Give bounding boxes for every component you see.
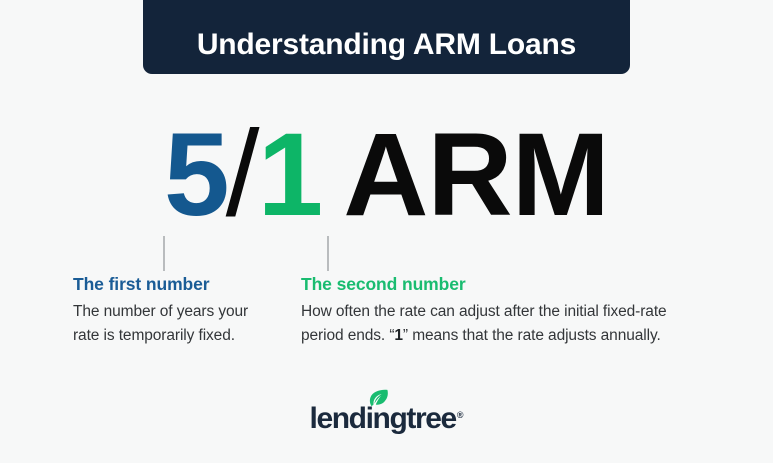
caption-body-second-line1: How often the rate can adjust after the … <box>301 303 667 320</box>
caption-body-second: How often the rate can adjust after the … <box>301 300 733 348</box>
headline-second-number: 1 <box>258 116 322 234</box>
caption-first-number: The first number The number of years you… <box>73 274 295 348</box>
caption-heading-second: The second number <box>301 274 733 294</box>
caption-body-second-line2-suffix: ” means that the rate adjusts annually. <box>403 327 661 344</box>
caption-second-number: The second number How often the rate can… <box>301 274 733 348</box>
leaf-icon <box>366 388 390 412</box>
headline-lockup: 5 / 1 ARM <box>0 112 773 230</box>
page-title: Understanding ARM Loans <box>197 30 576 60</box>
brand-logo: lendingtree ® <box>0 396 773 442</box>
connector-tick-second-number <box>327 236 329 271</box>
caption-body-second-emphasis: 1 <box>394 327 403 344</box>
caption-group: The first number The number of years you… <box>0 274 773 364</box>
connector-tick-first-number <box>163 236 165 271</box>
headline-first-number: 5 <box>164 116 228 234</box>
caption-body-second-line2-prefix: period ends. “ <box>301 327 394 344</box>
caption-body-first-line2: rate is temporarily fixed. <box>73 327 235 344</box>
headline-product-arm: ARM <box>343 116 609 234</box>
logo-registered-trademark-symbol: ® <box>457 410 464 420</box>
headline-separator-slash: / <box>226 112 258 234</box>
arm-loan-infographic: Understanding ARM Loans 5 / 1 ARM The fi… <box>0 0 773 463</box>
caption-body-first: The number of years your rate is tempora… <box>73 300 295 348</box>
caption-heading-first: The first number <box>73 274 295 294</box>
caption-body-first-line1: The number of years your <box>73 303 248 320</box>
title-banner: Understanding ARM Loans <box>143 0 630 74</box>
